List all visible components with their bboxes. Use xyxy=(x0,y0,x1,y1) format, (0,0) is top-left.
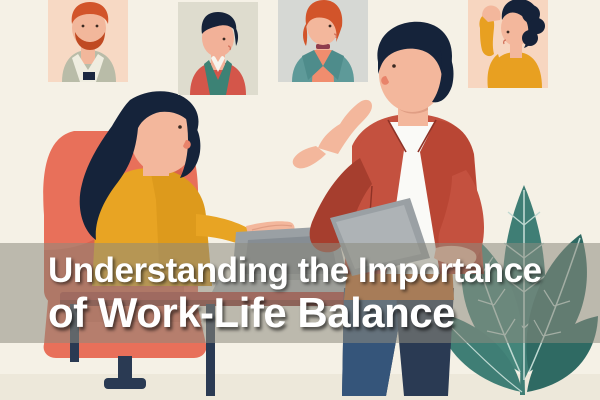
title-block: Understanding the Importance of Work-Lif… xyxy=(0,243,600,343)
video-thumbnail-participant-4[interactable] xyxy=(468,0,548,88)
illustration-canvas: Understanding the Importance of Work-Lif… xyxy=(0,0,600,400)
video-thumbnail-participant-1[interactable] xyxy=(48,0,128,82)
video-thumbnail-participant-3[interactable] xyxy=(278,0,368,82)
title-line-1: Understanding the Importance xyxy=(48,251,600,290)
title-line-2: of Work-Life Balance xyxy=(48,290,600,336)
video-thumbnail-participant-2[interactable] xyxy=(178,2,258,95)
